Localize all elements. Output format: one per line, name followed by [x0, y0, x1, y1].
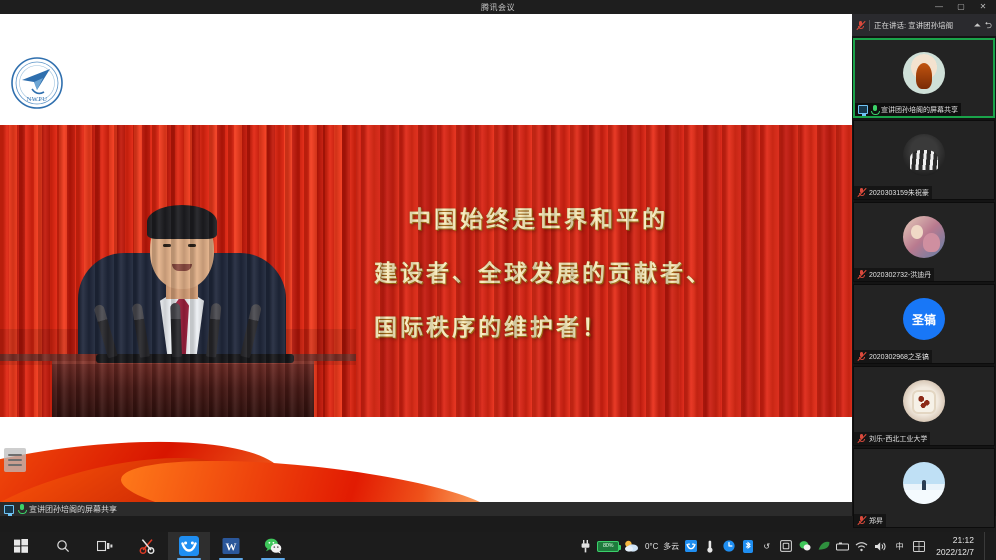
- clock-date: 2022/12/7: [936, 546, 974, 558]
- participant-tile-5[interactable]: 刘乐-西北工业大学: [853, 366, 995, 446]
- speaker-eye-left: [163, 244, 171, 247]
- windows-taskbar: W: [0, 532, 996, 560]
- handle-line-3: [8, 464, 22, 466]
- taskbar-clock[interactable]: 21:12 2022/12/7: [930, 532, 980, 560]
- slogan-line-1: 中国始终是世界和平的: [374, 200, 836, 234]
- avatar: [903, 134, 945, 176]
- weather-condition-label[interactable]: 多云: [663, 532, 679, 560]
- svg-text:W: W: [226, 541, 237, 553]
- participant-tiles: 宣讲团孙培阁的屏幕共享 2020303159朱祝豪: [852, 38, 996, 516]
- microphone-muted-icon: [856, 21, 865, 30]
- screen-share-icon: [858, 105, 868, 114]
- participant-name-bar: 2020302968之圣镐: [854, 350, 932, 363]
- window-controls: — ▢ ✕: [928, 0, 994, 14]
- svg-text:NWPU: NWPU: [27, 96, 48, 103]
- bluetooth-icon[interactable]: [740, 532, 755, 560]
- speaker-hair: [147, 205, 217, 239]
- word-icon: W: [222, 537, 240, 555]
- avatar: [903, 52, 945, 94]
- participant-name-bar: 2020303159朱祝豪: [854, 186, 932, 199]
- participant-name-bar: 郑昇: [854, 514, 886, 527]
- task-view-button[interactable]: [84, 532, 126, 560]
- clock-tray-icon[interactable]: [721, 532, 736, 560]
- avatar: [903, 216, 945, 258]
- slogan-line-3: 国际秩序的维护者！: [374, 308, 836, 342]
- removable-drive-icon[interactable]: [835, 532, 850, 560]
- show-desktop-button[interactable]: [984, 532, 994, 560]
- avatar: [903, 462, 945, 504]
- participant-tile-2[interactable]: 2020303159朱祝豪: [853, 120, 995, 200]
- avatar-initials: 圣镐: [912, 311, 936, 328]
- participant-tile-4[interactable]: 圣镐 2020302968之圣镐: [853, 284, 995, 364]
- participant-tile-6[interactable]: 郑昇: [853, 448, 995, 528]
- participant-name: 宣讲团孙培阁的屏幕共享: [881, 105, 958, 115]
- word-taskbar-icon[interactable]: W: [210, 532, 252, 560]
- partly-cloudy-icon[interactable]: [623, 532, 640, 560]
- desktop-root: 腾讯会议 — ▢ ✕ NWPU: [0, 0, 996, 560]
- start-button[interactable]: [0, 532, 42, 560]
- screen-share-status-bar: 宣讲团孙培阁的屏幕共享: [0, 502, 852, 516]
- speaker-eye-right: [188, 244, 196, 247]
- microphone-muted-icon: [857, 434, 866, 443]
- participant-name: 刘乐-西北工业大学: [869, 434, 927, 444]
- podium: [52, 361, 314, 417]
- floating-panel-handle[interactable]: [4, 448, 26, 472]
- tencent-meeting-icon: [179, 536, 199, 556]
- ime-language-indicator[interactable]: 中: [892, 532, 907, 560]
- active-speaker-label: 正在讲话: 宣讲团孙培阁: [874, 20, 970, 31]
- next-page-icon[interactable]: ⮌: [985, 21, 992, 30]
- slogan-line-2: 建设者、全球发展的贡献者、: [374, 254, 836, 288]
- participant-name: 2020302968之圣镐: [869, 352, 929, 362]
- participant-name-bar: 刘乐-西北工业大学: [854, 432, 930, 445]
- wechat-icon: [264, 537, 282, 555]
- screenshot-tray-icon[interactable]: [778, 532, 793, 560]
- scissors-icon: [139, 538, 156, 555]
- search-icon: [56, 539, 70, 553]
- tencent-meeting-tray-icon[interactable]: [683, 532, 698, 560]
- volume-icon[interactable]: [873, 532, 888, 560]
- prev-page-icon[interactable]: ⏶: [974, 21, 981, 30]
- handle-line-1: [8, 454, 22, 456]
- speaker-podium-photo: [0, 125, 356, 417]
- window-title: 腾讯会议: [481, 2, 515, 13]
- microphone-muted-icon: [857, 188, 866, 197]
- power-plug-icon[interactable]: [578, 532, 593, 560]
- maximize-button[interactable]: ▢: [950, 0, 972, 14]
- speaker-bar-divider: [869, 20, 870, 31]
- wechat-taskbar-icon[interactable]: [252, 532, 294, 560]
- screen-share-label: 宣讲团孙培阁的屏幕共享: [29, 504, 117, 515]
- nwpu-emblem-icon: NWPU: [10, 56, 64, 110]
- screen-share-icon: [4, 505, 14, 514]
- snipping-tool-taskbar-icon[interactable]: [126, 532, 168, 560]
- microphone-icon: [18, 504, 25, 514]
- close-button[interactable]: ✕: [972, 0, 994, 14]
- microphone-muted-icon: [857, 270, 866, 279]
- participant-name: 2020302732-洪迪丹: [869, 270, 931, 280]
- battery-icon: 80%: [597, 541, 619, 552]
- microphone-mount-bar: [96, 354, 294, 363]
- participant-rail: 正在讲话: 宣讲团孙培阁 ⏶ ⮌ 宣讲团孙培阁的屏幕共享: [852, 14, 996, 516]
- avatar: 圣镐: [903, 298, 945, 340]
- shared-screen-stage[interactable]: NWPU: [0, 14, 852, 516]
- participant-name: 郑昇: [869, 516, 883, 526]
- system-tray: 80% 0°C 多云: [578, 532, 996, 560]
- ime-keyboard-icon[interactable]: [911, 532, 926, 560]
- participant-name-bar: 2020302732-洪迪丹: [854, 268, 934, 281]
- windows-logo-icon: [14, 539, 28, 553]
- clock-time: 21:12: [953, 534, 974, 546]
- handle-line-2: [8, 459, 22, 461]
- microphone-muted-icon: [857, 516, 866, 525]
- active-speaker-bar: 正在讲话: 宣讲团孙培阁 ⏶ ⮌: [852, 14, 996, 36]
- minimize-button[interactable]: —: [928, 0, 950, 14]
- tencent-meeting-taskbar-icon[interactable]: [168, 532, 210, 560]
- microphone-muted-icon: [857, 352, 866, 361]
- slide-banner: 中国始终是世界和平的 建设者、全球发展的贡献者、 国际秩序的维护者！: [0, 125, 852, 417]
- participant-name-bar: 宣讲团孙培阁的屏幕共享: [855, 103, 961, 116]
- temperature-label[interactable]: 0°C: [644, 532, 659, 560]
- microphone-icon-3: [170, 303, 182, 357]
- search-button[interactable]: [42, 532, 84, 560]
- refresh-icon[interactable]: ↺: [759, 532, 774, 560]
- task-view-icon: [97, 540, 113, 552]
- microphone-icon: [871, 105, 878, 115]
- battery-level-label: 80%: [603, 543, 613, 549]
- leaf-tray-icon[interactable]: [816, 532, 831, 560]
- wechat-tray-icon[interactable]: [797, 532, 812, 560]
- thermometer-tray-icon[interactable]: [702, 532, 717, 560]
- slide-slogan: 中国始终是世界和平的 建设者、全球发展的贡献者、 国际秩序的维护者！: [366, 125, 852, 417]
- wifi-icon[interactable]: [854, 532, 869, 560]
- participant-tile-1[interactable]: 宣讲团孙培阁的屏幕共享: [853, 38, 995, 118]
- taskbar-apps: W: [0, 532, 294, 560]
- window-title-bar: 腾讯会议 — ▢ ✕: [0, 0, 996, 14]
- participant-tile-3[interactable]: 2020302732-洪迪丹: [853, 202, 995, 282]
- battery-indicator[interactable]: 80%: [597, 532, 619, 560]
- avatar: [903, 380, 945, 422]
- participant-name: 2020303159朱祝豪: [869, 188, 929, 198]
